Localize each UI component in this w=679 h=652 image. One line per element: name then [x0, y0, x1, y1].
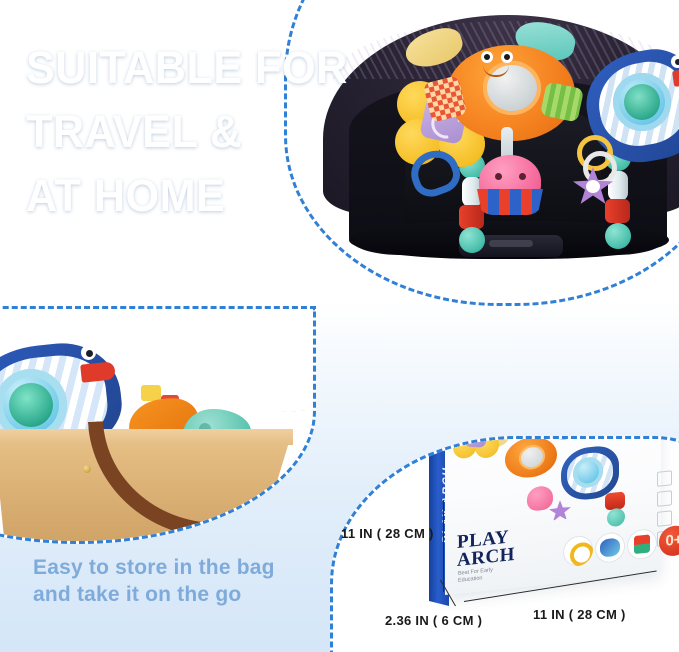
side-icon-2: [657, 490, 672, 507]
shark-mouth: [672, 67, 679, 87]
dimension-label-height: 11 IN ( 28 CM ): [341, 526, 434, 541]
bag-caption: Easy to store in the bag and take it on …: [33, 554, 333, 608]
art-crab-claw-right: [547, 436, 574, 441]
shark-eye-bag: [81, 345, 96, 360]
thumbnail-rattle: [627, 528, 657, 561]
art-octopus: [527, 485, 553, 512]
art-star: [549, 499, 571, 522]
side-icon-1: [657, 470, 672, 487]
shark-water-ring: [613, 73, 671, 131]
crab-eye-left: [481, 51, 493, 63]
panel-product-box: PLAY ARCH PLAY ARCH The safe & reliable …: [330, 436, 679, 652]
octopus-legs: [477, 189, 543, 215]
age-badge: 0+: [659, 524, 679, 557]
box-title: PLAY ARCH: [457, 528, 515, 570]
shark-eye: [671, 55, 679, 68]
dimension-label-width: 11 IN ( 28 CM ): [533, 607, 626, 622]
bag-photo: [0, 309, 313, 541]
art-teal-bead: [607, 507, 625, 527]
thumbnail-flower: [563, 534, 593, 567]
octopus-eye-right: [519, 173, 526, 180]
octopus-eye-left: [495, 173, 502, 180]
dimension-leader-height: [443, 500, 444, 592]
panel-bag-scene: [0, 306, 316, 544]
product-marketing-image: PLAY ARCH PLAY ARCH The safe & reliable …: [0, 0, 679, 652]
thumbnail-shark: [595, 531, 625, 564]
side-icon-3: [657, 510, 672, 527]
page-headline: SUITABLE FOR TRAVEL & AT HOME: [26, 36, 372, 228]
dimension-label-depth: 2.36 IN ( 6 CM ): [385, 613, 482, 628]
art-flower: [453, 436, 499, 460]
bag-stud-icon: [83, 465, 91, 473]
crab-eye-right: [501, 51, 513, 63]
